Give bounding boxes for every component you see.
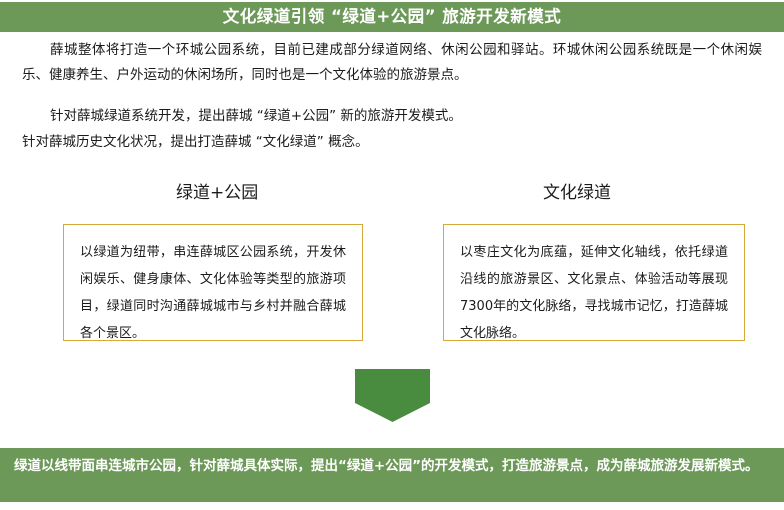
right-column-heading: 文化绿道 <box>543 178 611 203</box>
left-box-text: 以绿道为纽带，串连薛城区公园系统，开发休闲娱乐、健身康体、文化体验等类型的旅游项… <box>80 239 346 347</box>
left-content-box: 以绿道为纽带，串连薛城区公园系统，开发休闲娱乐、健身康体、文化体验等类型的旅游项… <box>63 224 363 341</box>
slide-page: 文化绿道引领 “绿道+公园” 旅游开发新模式 薛城整体将打造一个环城公园系统，目… <box>0 0 784 510</box>
culture-paragraph: 针对薛城历史文化状况，提出打造薛城 “文化绿道” 概念。 <box>22 130 762 155</box>
conclusion-text: 绿道以线带面串连城市公园，针对薛城具体实际，提出“绿道+公园”的开发模式，打造旅… <box>14 455 770 478</box>
down-chevron-icon <box>355 369 430 422</box>
conclusion-bar: 绿道以线带面串连城市公园，针对薛城具体实际，提出“绿道+公园”的开发模式，打造旅… <box>0 448 784 502</box>
slide-title-bar: 文化绿道引领 “绿道+公园” 旅游开发新模式 <box>0 2 784 32</box>
right-content-box: 以枣庄文化为底蕴，延伸文化轴线，依托绿道沿线的旅游景区、文化景点、体验活动等展现… <box>443 224 745 341</box>
model-paragraph: 针对薛城绿道系统开发，提出薛城 “绿道+公园” 新的旅游开发模式。 <box>22 104 762 129</box>
intro-paragraph-text: 薛城整体将打造一个环城公园系统，目前已建成部分绿道网络、休闲公园和驿站。环城休闲… <box>22 38 762 88</box>
culture-paragraph-text: 针对薛城历史文化状况，提出打造薛城 “文化绿道” 概念。 <box>22 130 762 155</box>
right-box-text: 以枣庄文化为底蕴，延伸文化轴线，依托绿道沿线的旅游景区、文化景点、体验活动等展现… <box>460 239 728 347</box>
model-paragraph-text: 针对薛城绿道系统开发，提出薛城 “绿道+公园” 新的旅游开发模式。 <box>22 104 762 129</box>
page-title: 文化绿道引领 “绿道+公园” 旅游开发新模式 <box>223 2 562 32</box>
left-column-heading: 绿道+公园 <box>176 178 258 203</box>
intro-paragraph: 薛城整体将打造一个环城公园系统，目前已建成部分绿道网络、休闲公园和驿站。环城休闲… <box>22 38 762 88</box>
